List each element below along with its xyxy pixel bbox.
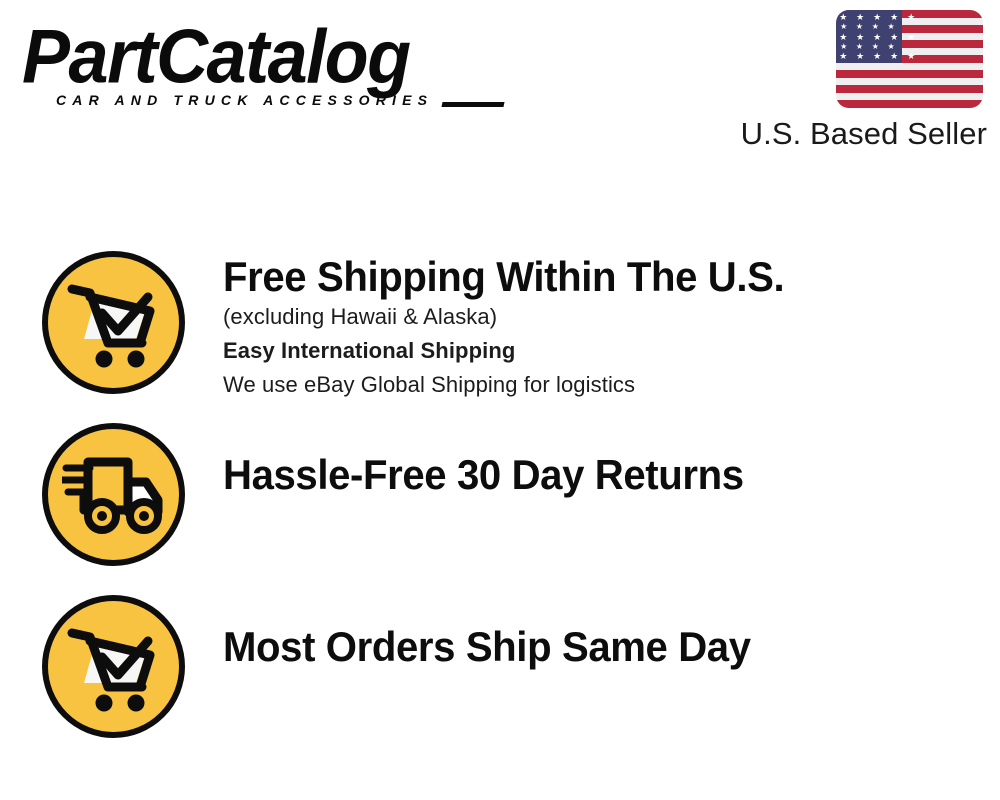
feature-title: Free Shipping Within The U.S. [223, 253, 949, 301]
feature-subtitle-bold: Easy International Shipping [223, 333, 983, 369]
feature-title: Most Orders Ship Same Day [223, 623, 949, 671]
delivery-truck-icon [42, 423, 185, 566]
feature-row-free-shipping: Free Shipping Within The U.S. (excluding… [0, 247, 1000, 417]
us-based-seller-label: U.S. Based Seller [725, 116, 987, 152]
feature-text-block: Most Orders Ship Same Day [223, 591, 983, 671]
feature-text-block: Free Shipping Within The U.S. (excluding… [223, 247, 983, 401]
feature-row-returns: Hassle-Free 30 Day Returns [0, 419, 1000, 569]
flag-star-row: ★ ★ ★ ★ ★ [836, 51, 902, 62]
feature-title: Hassle-Free 30 Day Returns [223, 451, 949, 499]
feature-row-same-day-ship: Most Orders Ship Same Day [0, 591, 1000, 741]
page-header: PartCatalog CAR AND TRUCK ACCESSORIES ★ … [0, 0, 1000, 175]
feature-subtitle-secondary: We use eBay Global Shipping for logistic… [223, 369, 983, 401]
flag-star-row: ★ ★ ★ ★ ★ [836, 12, 902, 23]
brand-wordmark: PartCatalog [22, 18, 492, 96]
feature-text-block: Hassle-Free 30 Day Returns [223, 419, 983, 499]
partcatalog-logo[interactable]: PartCatalog CAR AND TRUCK ACCESSORIES [22, 18, 492, 113]
shopping-cart-check-icon [42, 595, 185, 738]
flag-star-row: ★ ★ ★ ★ [836, 22, 902, 33]
brand-underline-accent [441, 102, 504, 107]
feature-subtitle: (excluding Hawaii & Alaska) [223, 301, 983, 333]
us-flag-icon: ★ ★ ★ ★ ★ ★ ★ ★ ★ ★ ★ ★ ★ ★ ★ ★ ★ ★ ★ ★ … [836, 10, 983, 108]
flag-star-row: ★ ★ ★ ★ ★ [836, 32, 902, 43]
shopping-cart-check-icon [42, 251, 185, 394]
flag-canton: ★ ★ ★ ★ ★ ★ ★ ★ ★ ★ ★ ★ ★ ★ ★ ★ ★ ★ ★ ★ … [836, 10, 902, 63]
brand-tagline: CAR AND TRUCK ACCESSORIES [56, 92, 433, 108]
